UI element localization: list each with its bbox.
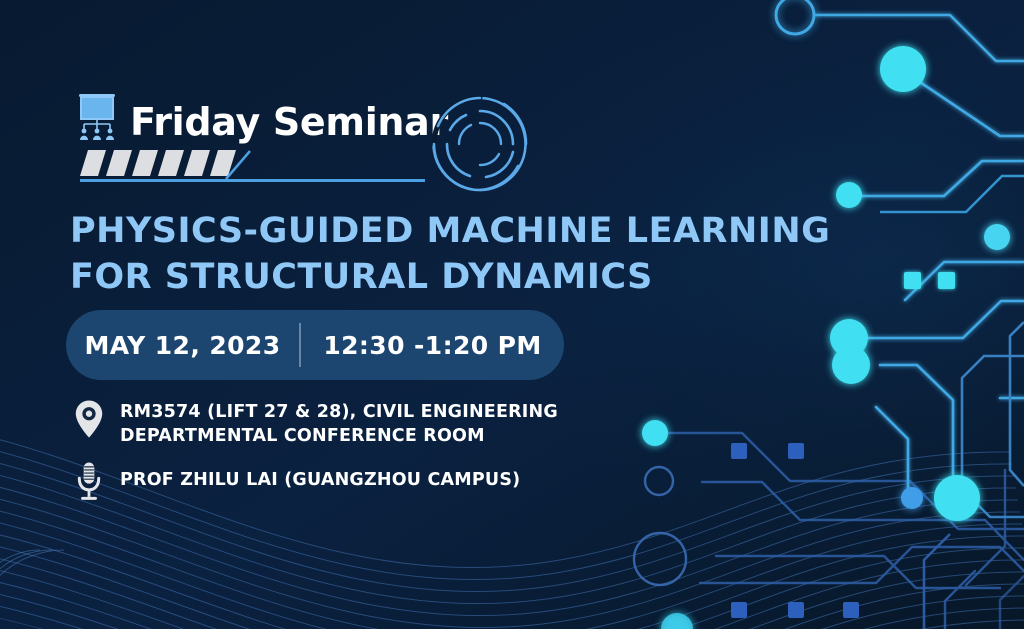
microphone-icon [74, 460, 120, 504]
brand-label: Friday Seminar [130, 102, 448, 142]
speaker-text: PROF ZHILU LAI (GUANGZHOU CAMPUS) [120, 460, 520, 492]
seminar-poster: Friday Seminar [0, 0, 1024, 629]
stripe-bars [80, 150, 240, 178]
map-pin-icon [74, 398, 120, 442]
pill-divider [299, 323, 301, 367]
venue-line-1: RM3574 (LIFT 27 & 28), CIVIL ENGINEERING [120, 400, 558, 424]
venue-text: RM3574 (LIFT 27 & 28), CIVIL ENGINEERING… [120, 398, 558, 448]
event-date: MAY 12, 2023 [66, 331, 299, 360]
tech-rings-icon [426, 92, 534, 196]
title-line-2: FOR STRUCTURAL DYNAMICS [70, 254, 850, 300]
schedule-pill: MAY 12, 2023 12:30 -1:20 PM [66, 310, 564, 380]
speaker-name: PROF ZHILU LAI (GUANGZHOU CAMPUS) [120, 468, 520, 492]
venue-row: RM3574 (LIFT 27 & 28), CIVIL ENGINEERING… [74, 398, 594, 448]
venue-line-2: DEPARTMENTAL CONFERENCE ROOM [120, 424, 558, 448]
speaker-row: PROF ZHILU LAI (GUANGZHOU CAMPUS) [74, 460, 594, 504]
stripe-underline [80, 179, 425, 182]
event-details: RM3574 (LIFT 27 & 28), CIVIL ENGINEERING… [74, 398, 594, 516]
presentation-board-icon [72, 90, 122, 142]
event-time: 12:30 -1:20 PM [301, 331, 564, 360]
title-line-1: PHYSICS-GUIDED MACHINE LEARNING [70, 211, 830, 251]
stripe-edge-icon [222, 150, 252, 180]
page-title: PHYSICS-GUIDED MACHINE LEARNING FOR STRU… [70, 208, 850, 300]
